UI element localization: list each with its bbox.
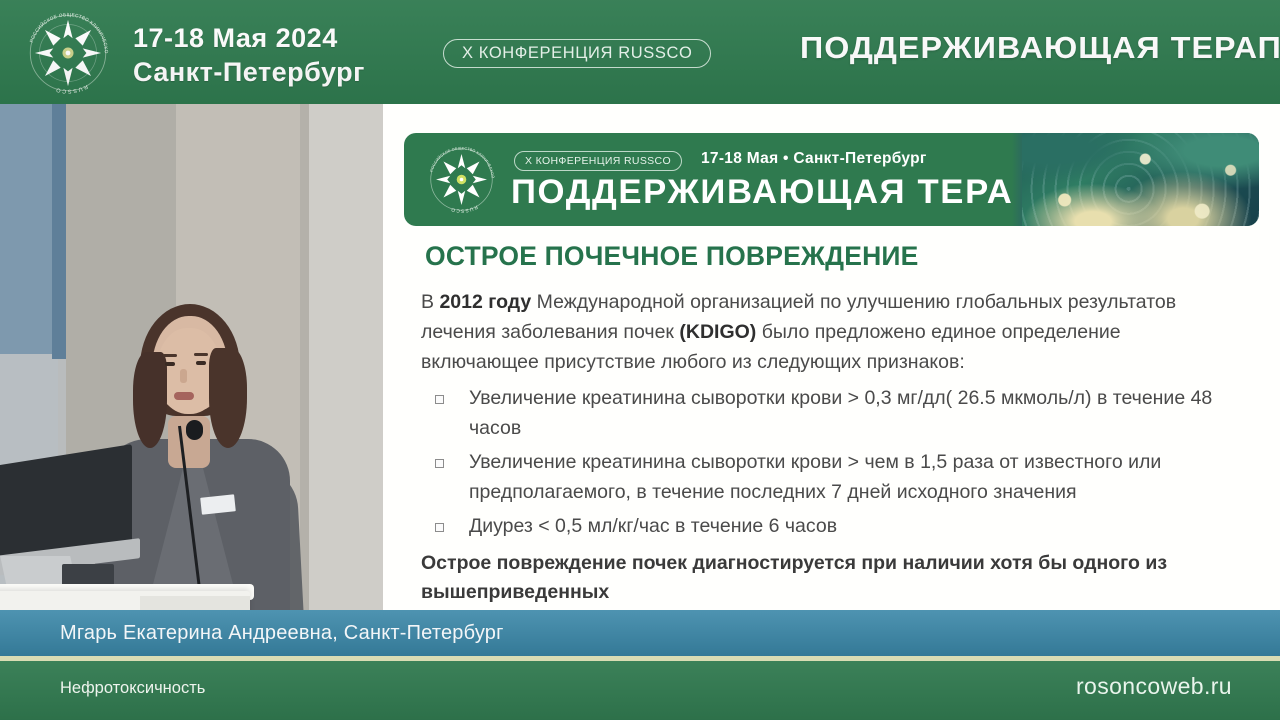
speaker-name-bar: Мгарь Екатерина Андреевна, Санкт-Петербу… <box>0 610 1280 656</box>
speaker-video-feed[interactable] <box>0 104 383 610</box>
video-bg-wall-blue-panel <box>0 104 54 354</box>
podium-side <box>140 596 250 610</box>
slide-intro-paragraph: В 2012 году Международной организацией п… <box>421 287 1231 377</box>
criteria-list: Увеличение креатинина сыворотки крови > … <box>421 383 1231 541</box>
slide-content: В 2012 году Международной организацией п… <box>421 287 1231 610</box>
presentation-slide[interactable]: РОССИЙСКОЕ ОБЩЕСТВО КЛИНИЧЕСКОЙ ОНКОЛОГИ… <box>383 104 1280 610</box>
webinar-player: РОССИЙСКОЕ ОБЩЕСТВО КЛИНИЧЕСКОЙ ОНКОЛОГИ… <box>0 0 1280 720</box>
list-item: Увеличение креатинина сыворотки крови > … <box>421 383 1231 443</box>
slide-heading: ОСТРОЕ ПОЧЕЧНОЕ ПОВРЕЖДЕНИЕ <box>425 241 919 272</box>
slide-russco-compass-star-logo-icon: РОССИЙСКОЕ ОБЩЕСТВО КЛИНИЧЕСКОЙ ОНКОЛОГИ… <box>424 142 499 217</box>
russco-compass-star-logo-icon: РОССИЙСКОЕ ОБЩЕСТВО КЛИНИЧЕСКОЙ ОНКОЛОГИ… <box>22 7 114 99</box>
speaker-mouth <box>174 392 194 400</box>
para-bold-kdigo: (KDIGO) <box>679 321 756 343</box>
para-pre: В <box>421 291 439 313</box>
para-bold-year: 2012 году <box>439 291 531 313</box>
svg-text:RUSSCO: RUSSCO <box>54 83 88 94</box>
header-conference-pill: X КОНФЕРЕНЦИЯ RUSSCO <box>443 39 711 68</box>
speaker-eyebrow-left <box>163 354 177 357</box>
video-bg-wall-right <box>309 104 383 610</box>
speaker-nose <box>180 369 187 383</box>
speaker-name-label: Мгарь Екатерина Андреевна, Санкт-Петербу… <box>60 622 504 645</box>
header-date-location: 17-18 Мая 2024 Санкт-Петербург <box>133 21 393 89</box>
speaker-eye-right <box>196 361 206 365</box>
slide-banner-date: 17-18 Мая • Санкт-Петербург <box>701 150 927 168</box>
header-location: Санкт-Петербург <box>133 55 393 89</box>
header-title: ПОДДЕРЖИВАЮЩАЯ ТЕРАПИЯ <box>800 30 1268 66</box>
speaker-name-badge <box>200 494 236 514</box>
speaker-eye-left <box>165 362 175 366</box>
slide-closing-statement: Острое повреждение почек диагностируется… <box>421 549 1231 607</box>
conference-header: РОССИЙСКОЕ ОБЩЕСТВО КЛИНИЧЕСКОЙ ОНКОЛОГИ… <box>0 0 1280 104</box>
footer-topic-label: Нефротоксичность <box>60 679 205 698</box>
svg-text:РОССИЙСКОЕ ОБЩЕСТВО КЛИНИЧЕСКО: РОССИЙСКОЕ ОБЩЕСТВО КЛИНИЧЕСКОЙ ОНКОЛОГИ… <box>424 142 495 180</box>
microphone-icon <box>186 420 203 440</box>
speaker-hair-right-strand <box>209 348 247 448</box>
header-date: 17-18 Мая 2024 <box>133 21 393 55</box>
slide-banner-title: ПОДДЕРЖИВАЮЩАЯ ТЕРАПИЯ <box>511 173 1093 212</box>
list-item: Увеличение креатинина сыворотки крови > … <box>421 447 1231 507</box>
list-item: Диурез < 0,5 мл/кг/час в течение 6 часов <box>421 511 1231 541</box>
slide-banner-art-edge <box>1012 133 1022 226</box>
slide-conference-pill: X КОНФЕРЕНЦИЯ RUSSCO <box>514 151 682 171</box>
footer-bar: Нефротоксичность rosoncoweb.ru <box>0 661 1280 720</box>
speaker-hair-left-strand <box>133 352 167 448</box>
video-bg-wall-blue-strip <box>52 104 66 359</box>
podium-device <box>62 564 114 586</box>
speaker-eyebrow-right <box>194 353 208 356</box>
svg-text:RUSSCO: RUSSCO <box>450 204 479 214</box>
abstract-fluid-art-image <box>1022 133 1259 226</box>
footer-site-url: rosoncoweb.ru <box>1076 673 1232 700</box>
slide-banner: РОССИЙСКОЕ ОБЩЕСТВО КЛИНИЧЕСКОЙ ОНКОЛОГИ… <box>404 133 1259 226</box>
